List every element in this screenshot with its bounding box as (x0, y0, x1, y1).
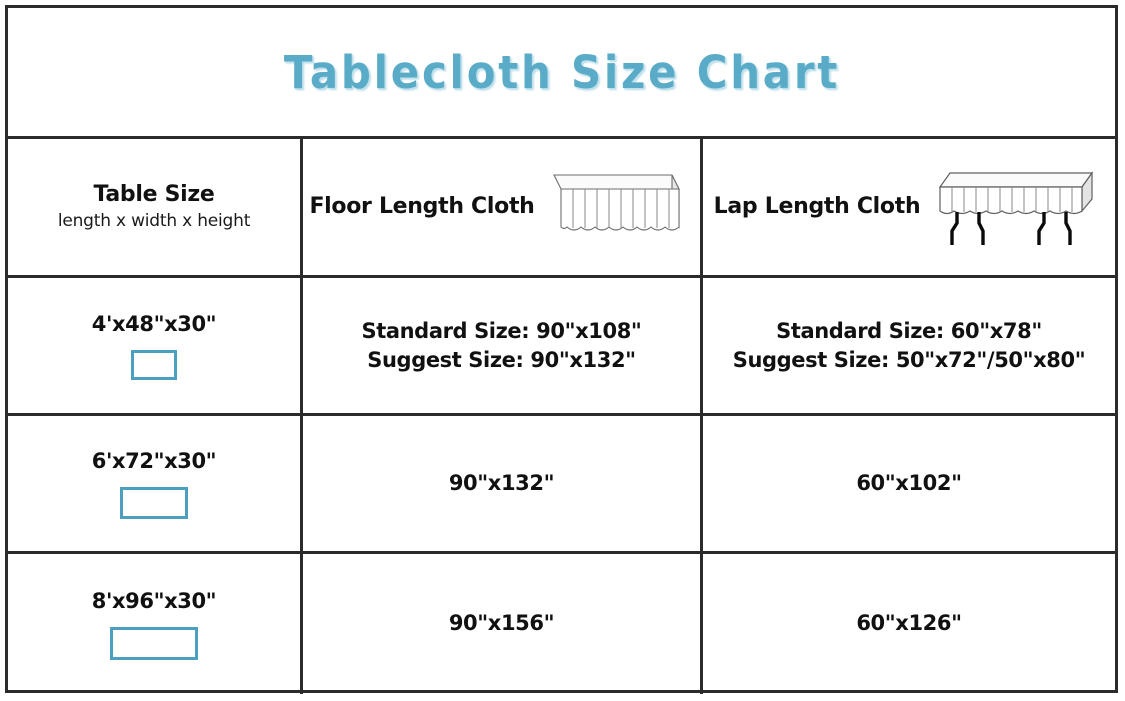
header-table-size-sublabel: length x width x height (58, 210, 250, 232)
cell-floor-length-size: Standard Size: 90"x108" Suggest Size: 90… (303, 278, 703, 413)
cell-table-size: 6'x72"x30" (8, 416, 303, 551)
table-footprint-swatch (110, 627, 198, 660)
lap-standard-size: 60"x126" (856, 610, 961, 638)
floor-standard-size: Standard Size: 90"x108" (362, 317, 642, 345)
cell-lap-length-size: 60"x126" (703, 554, 1115, 694)
floor-standard-size: 90"x132" (449, 470, 554, 498)
header-cell-table-size: Table Size length x width x height (8, 139, 303, 275)
table-row: 4'x48"x30" Standard Size: 90"x108" Sugge… (8, 278, 1115, 416)
floor-length-cloth-icon (539, 171, 694, 243)
floor-suggest-size: Suggest Size: 90"x132" (362, 346, 642, 374)
cell-floor-length-size: 90"x156" (303, 554, 703, 694)
table-footprint-swatch (131, 350, 177, 380)
header-table-size-label: Table Size (94, 182, 215, 207)
tablecloth-size-chart: Tablecloth Size Chart Table Size length … (5, 5, 1118, 693)
header-lap-length-label: Lap Length Cloth (714, 194, 921, 219)
cell-floor-length-size: 90"x132" (303, 416, 703, 551)
lap-standard-size: Standard Size: 60"x78" (733, 317, 1086, 345)
header-floor-length-label: Floor Length Cloth (309, 194, 534, 219)
header-cell-floor-length: Floor Length Cloth (303, 139, 703, 275)
cell-table-size: 8'x96"x30" (8, 554, 303, 694)
table-footprint-swatch (120, 487, 188, 519)
floor-standard-size: 90"x156" (449, 610, 554, 638)
cell-lap-length-size: Standard Size: 60"x78" Suggest Size: 50"… (703, 278, 1115, 413)
table-size-value: 8'x96"x30" (92, 588, 216, 616)
title-row: Tablecloth Size Chart (8, 8, 1115, 139)
cell-lap-length-size: 60"x102" (703, 416, 1115, 551)
table-size-value: 6'x72"x30" (92, 448, 216, 476)
header-cell-lap-length: Lap Length Cloth (703, 139, 1115, 275)
lap-suggest-size: Suggest Size: 50"x72"/50"x80" (733, 346, 1086, 374)
page-title: Tablecloth Size Chart (283, 46, 839, 99)
table-size-value: 4'x48"x30" (92, 311, 216, 339)
table-row: 8'x96"x30" 90"x156" 60"x126" (8, 554, 1115, 694)
lap-standard-size: 60"x102" (856, 470, 961, 498)
table-header-row: Table Size length x width x height Floor… (8, 139, 1115, 278)
table-row: 6'x72"x30" 90"x132" 60"x102" (8, 416, 1115, 554)
lap-length-cloth-icon (924, 161, 1104, 253)
cell-table-size: 4'x48"x30" (8, 278, 303, 413)
